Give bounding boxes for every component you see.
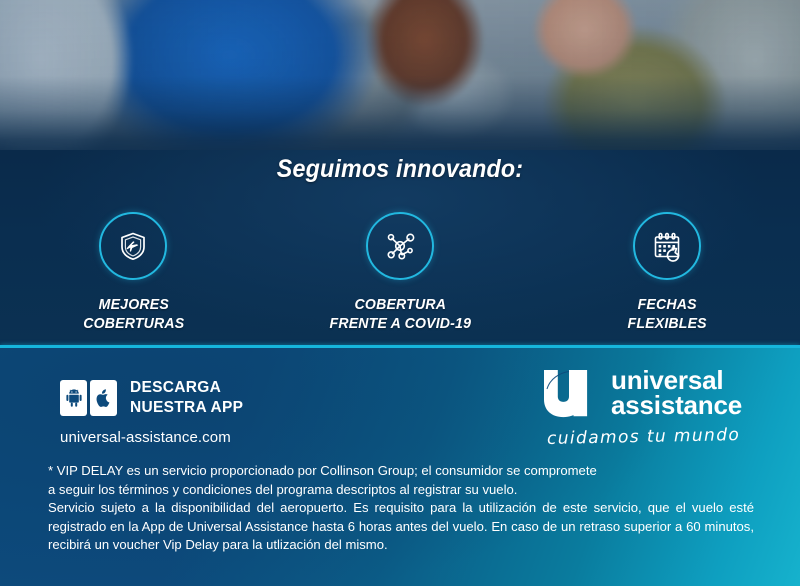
- feature-label: MEJORES COBERTURAS: [83, 295, 184, 333]
- legal-line-3: Servicio sujeto a la disponibilidad del …: [48, 499, 754, 555]
- legal-line-1: * VIP DELAY es un servicio proporcionado…: [48, 462, 754, 481]
- feature-fechas-flexibles: FECHAS FLEXIBLES: [533, 212, 800, 333]
- promo-banner: Seguimos innovando: MEJORES COBERTURAS: [0, 0, 800, 586]
- brand-lockup: universal assistance cuidamos tu mundo: [542, 366, 742, 447]
- legal-disclaimer: * VIP DELAY es un servicio proporcionado…: [48, 462, 754, 555]
- feature-label: COBERTURA FRENTE A COVID-19: [329, 295, 471, 333]
- android-icon: [65, 388, 83, 408]
- universal-assistance-ua-logo: [542, 366, 598, 420]
- feature-label: FECHAS FLEXIBLES: [627, 295, 706, 333]
- features-list: MEJORES COBERTURAS: [0, 212, 800, 333]
- calendar-reschedule-icon: [633, 212, 701, 280]
- shield-airplane-icon: [99, 212, 167, 280]
- apple-icon: [95, 388, 112, 409]
- feature-cobertura-covid: COBERTURA FRENTE A COVID-19: [267, 212, 534, 333]
- website-link[interactable]: universal-assistance.com: [60, 429, 231, 446]
- store-badges[interactable]: [60, 380, 117, 416]
- legal-line-2: a seguir los términos y condiciones del …: [48, 481, 754, 500]
- brand-tagline: cuidamos tu mundo: [547, 425, 741, 449]
- download-app-label: DESCARGA NUESTRA APP: [130, 378, 243, 418]
- page-title: Seguimos innovando:: [28, 155, 772, 184]
- virus-network-icon: [366, 212, 434, 280]
- apple-store-badge[interactable]: [90, 380, 117, 416]
- feature-mejores-coberturas: MEJORES COBERTURAS: [0, 212, 267, 333]
- brand-row: universal assistance: [542, 366, 742, 420]
- download-app-block[interactable]: DESCARGA NUESTRA APP: [60, 378, 243, 418]
- android-store-badge[interactable]: [60, 380, 87, 416]
- brand-name: universal assistance: [611, 368, 742, 418]
